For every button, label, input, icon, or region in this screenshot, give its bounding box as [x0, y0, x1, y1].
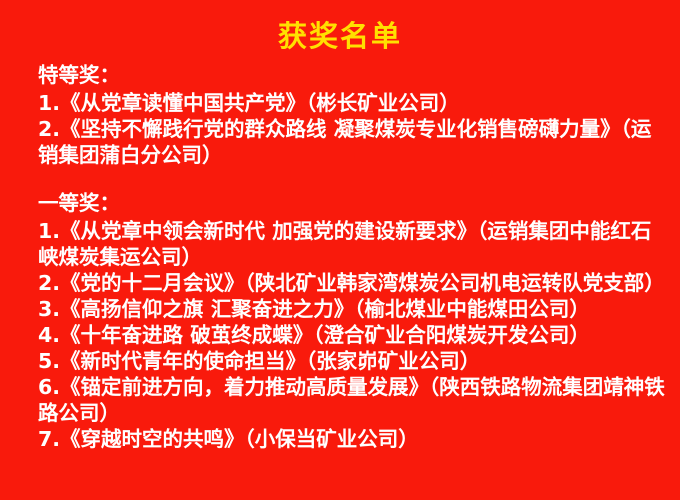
list-item: 3.《高扬信仰之旗 汇聚奋进之力》（榆北煤业中能煤田公司） — [38, 296, 666, 322]
list-item: 2.《坚持不懈践行党的群众路线 凝聚煤炭专业化销售磅礴力量》（运销集团蒲白分公司… — [38, 116, 666, 168]
award-list-container: 特等奖： 1.《从党章读懂中国共产党》（彬长矿业公司） 2.《坚持不懈践行党的群… — [38, 62, 666, 452]
list-item: 4.《十年奋进路 破茧终成蝶》（澄合矿业合阳煤炭开发公司） — [38, 322, 666, 348]
award-section-special: 特等奖： 1.《从党章读懂中国共产党》（彬长矿业公司） 2.《坚持不懈践行党的群… — [38, 62, 666, 168]
section-heading-first: 一等奖： — [38, 190, 666, 216]
award-items-special: 1.《从党章读懂中国共产党》（彬长矿业公司） 2.《坚持不懈践行党的群众路线 凝… — [38, 90, 666, 168]
list-item: 2.《党的十二月会议》（陕北矿业韩家湾煤炭公司机电运转队党支部） — [38, 270, 666, 296]
list-item: 6.《锚定前进方向，着力推动高质量发展》（陕西铁路物流集团靖神铁路公司） — [38, 374, 666, 426]
section-heading-special: 特等奖： — [38, 62, 666, 88]
list-item: 1.《从党章读懂中国共产党》（彬长矿业公司） — [38, 90, 666, 116]
award-items-first: 1.《从党章中领会新时代 加强党的建设新要求》（运销集团中能红石峡煤炭集运公司）… — [38, 218, 666, 452]
list-item: 1.《从党章中领会新时代 加强党的建设新要求》（运销集团中能红石峡煤炭集运公司） — [38, 218, 666, 270]
award-section-first: 一等奖： 1.《从党章中领会新时代 加强党的建设新要求》（运销集团中能红石峡煤炭… — [38, 190, 666, 452]
list-item: 7.《穿越时空的共鸣》（小保当矿业公司） — [38, 426, 666, 452]
award-poster: 获奖名单 特等奖： 1.《从党章读懂中国共产党》（彬长矿业公司） 2.《坚持不懈… — [0, 0, 680, 500]
page-title: 获奖名单 — [0, 16, 680, 56]
list-item: 5.《新时代青年的使命担当》（张家峁矿业公司） — [38, 348, 666, 374]
